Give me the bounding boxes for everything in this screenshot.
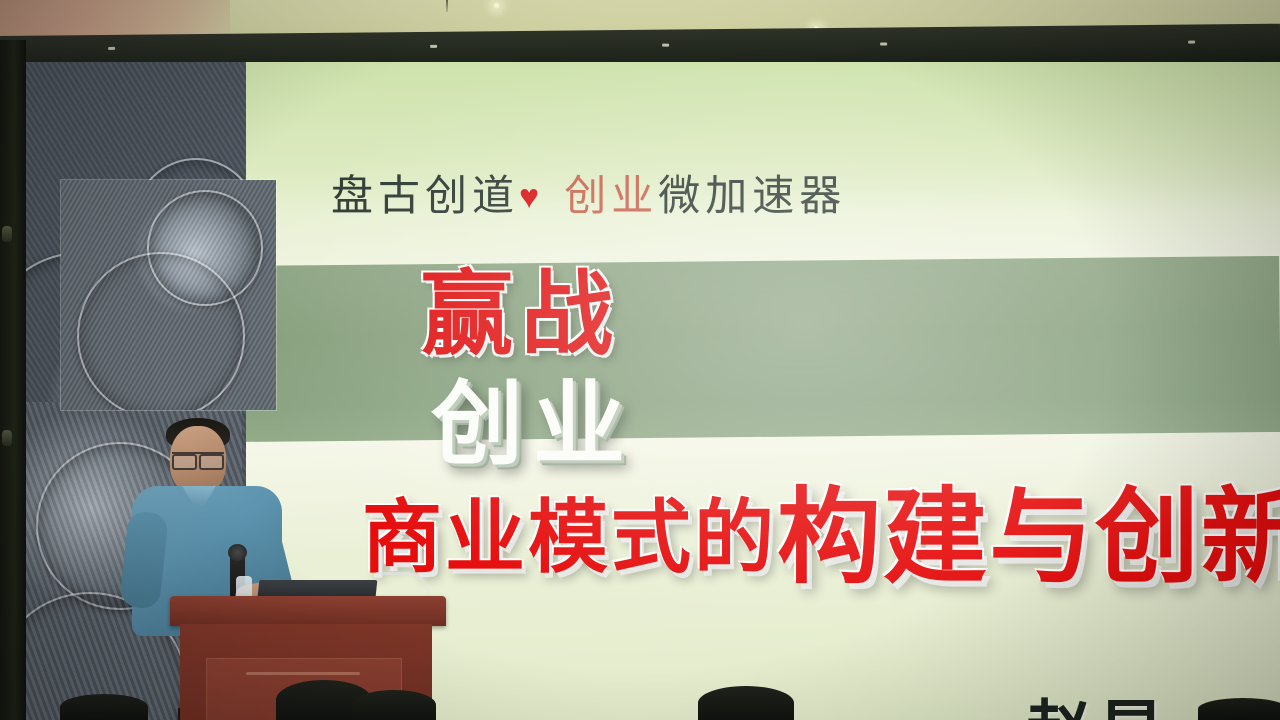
microphone-head	[228, 544, 247, 561]
screenshot-stage: 盘古创道♥创业微加速器 赢战 创业 商业模式的构建与创新 CBC创业教练 ET管…	[0, 0, 1280, 720]
subtitle-tail: 微加速器	[658, 174, 846, 220]
frame-highlight	[430, 45, 437, 48]
ceiling-downlight	[492, 1, 501, 10]
audience-head	[1198, 698, 1280, 720]
audience-head	[60, 694, 148, 720]
frame-highlight	[108, 47, 115, 50]
speaker-and-podium	[118, 408, 328, 720]
frame-highlight	[1188, 41, 1195, 44]
coin-disc	[77, 252, 245, 410]
podium-trim-line	[246, 672, 360, 675]
coin-photo-inset	[61, 180, 276, 410]
heart-icon: ♥	[519, 179, 544, 216]
frame-bracket	[2, 430, 12, 446]
glasses-icon	[172, 452, 224, 464]
frame-highlight	[662, 44, 669, 47]
slide-subtitle: 盘古创道♥创业微加速器	[331, 162, 846, 223]
frame-bracket	[2, 226, 12, 242]
coin-disc	[147, 190, 263, 306]
screen-frame-left	[0, 40, 26, 720]
subtitle-accent-word: 创业	[564, 174, 658, 220]
audience-head	[698, 686, 794, 720]
podium-top	[170, 596, 446, 626]
slide-main-title: 商业模式的构建与创新	[362, 444, 1280, 595]
ceiling-hanger	[446, 0, 448, 12]
main-title-part-b: 构建与创新	[777, 481, 1280, 596]
brand-text: 盘古创道	[331, 174, 519, 220]
main-title-part-a: 商业模式的	[362, 495, 777, 583]
audience-head	[352, 690, 436, 720]
presenter-name: 赵星	[1026, 678, 1170, 720]
frame-highlight	[880, 42, 887, 45]
